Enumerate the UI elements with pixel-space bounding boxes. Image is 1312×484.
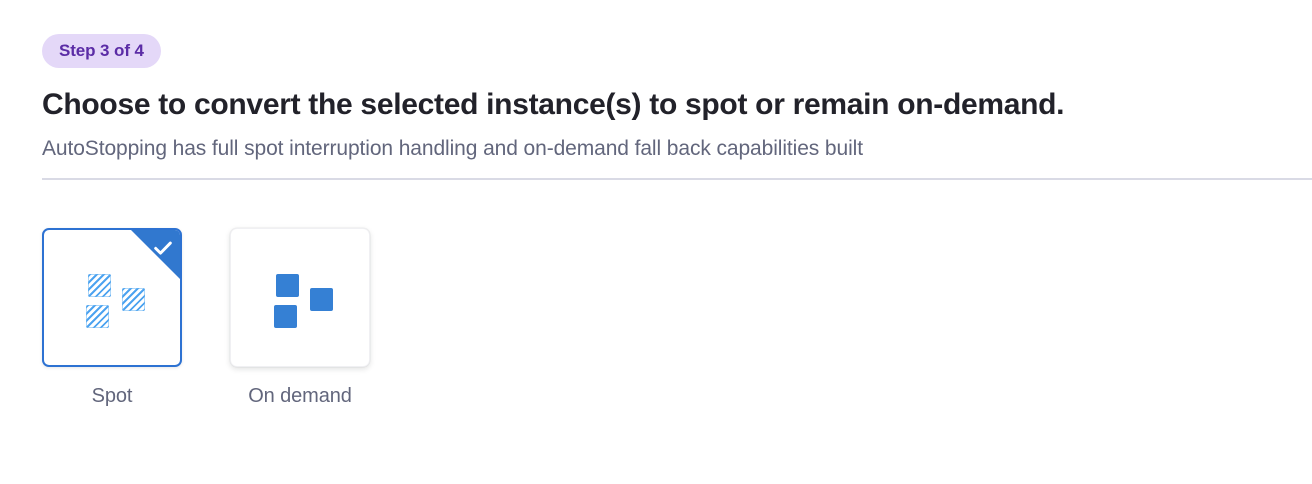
wizard-step-panel: Step 3 of 4 Choose to convert the select… [0, 0, 1312, 484]
option-card-spot[interactable] [42, 228, 182, 367]
page-title: Choose to convert the selected instance(… [42, 86, 1312, 124]
option-label-on-demand: On demand [230, 381, 370, 412]
solid-squares-icon [268, 268, 332, 328]
check-icon [152, 237, 174, 259]
option-card-on-demand[interactable] [230, 228, 370, 367]
option-on-demand[interactable]: On demand [230, 228, 370, 412]
solid-square-2 [310, 288, 333, 311]
instance-type-options: Spot On demand [42, 228, 1312, 412]
section-divider [42, 178, 1312, 180]
solid-square-1 [276, 274, 299, 297]
page-subtitle: AutoStopping has full spot interruption … [42, 135, 1312, 163]
option-spot[interactable]: Spot [42, 228, 182, 412]
striped-square-2 [122, 288, 145, 311]
step-badge: Step 3 of 4 [42, 34, 161, 68]
option-label-spot: Spot [42, 381, 182, 412]
striped-square-1 [88, 274, 111, 297]
striped-square-3 [86, 305, 109, 328]
solid-square-3 [274, 305, 297, 328]
